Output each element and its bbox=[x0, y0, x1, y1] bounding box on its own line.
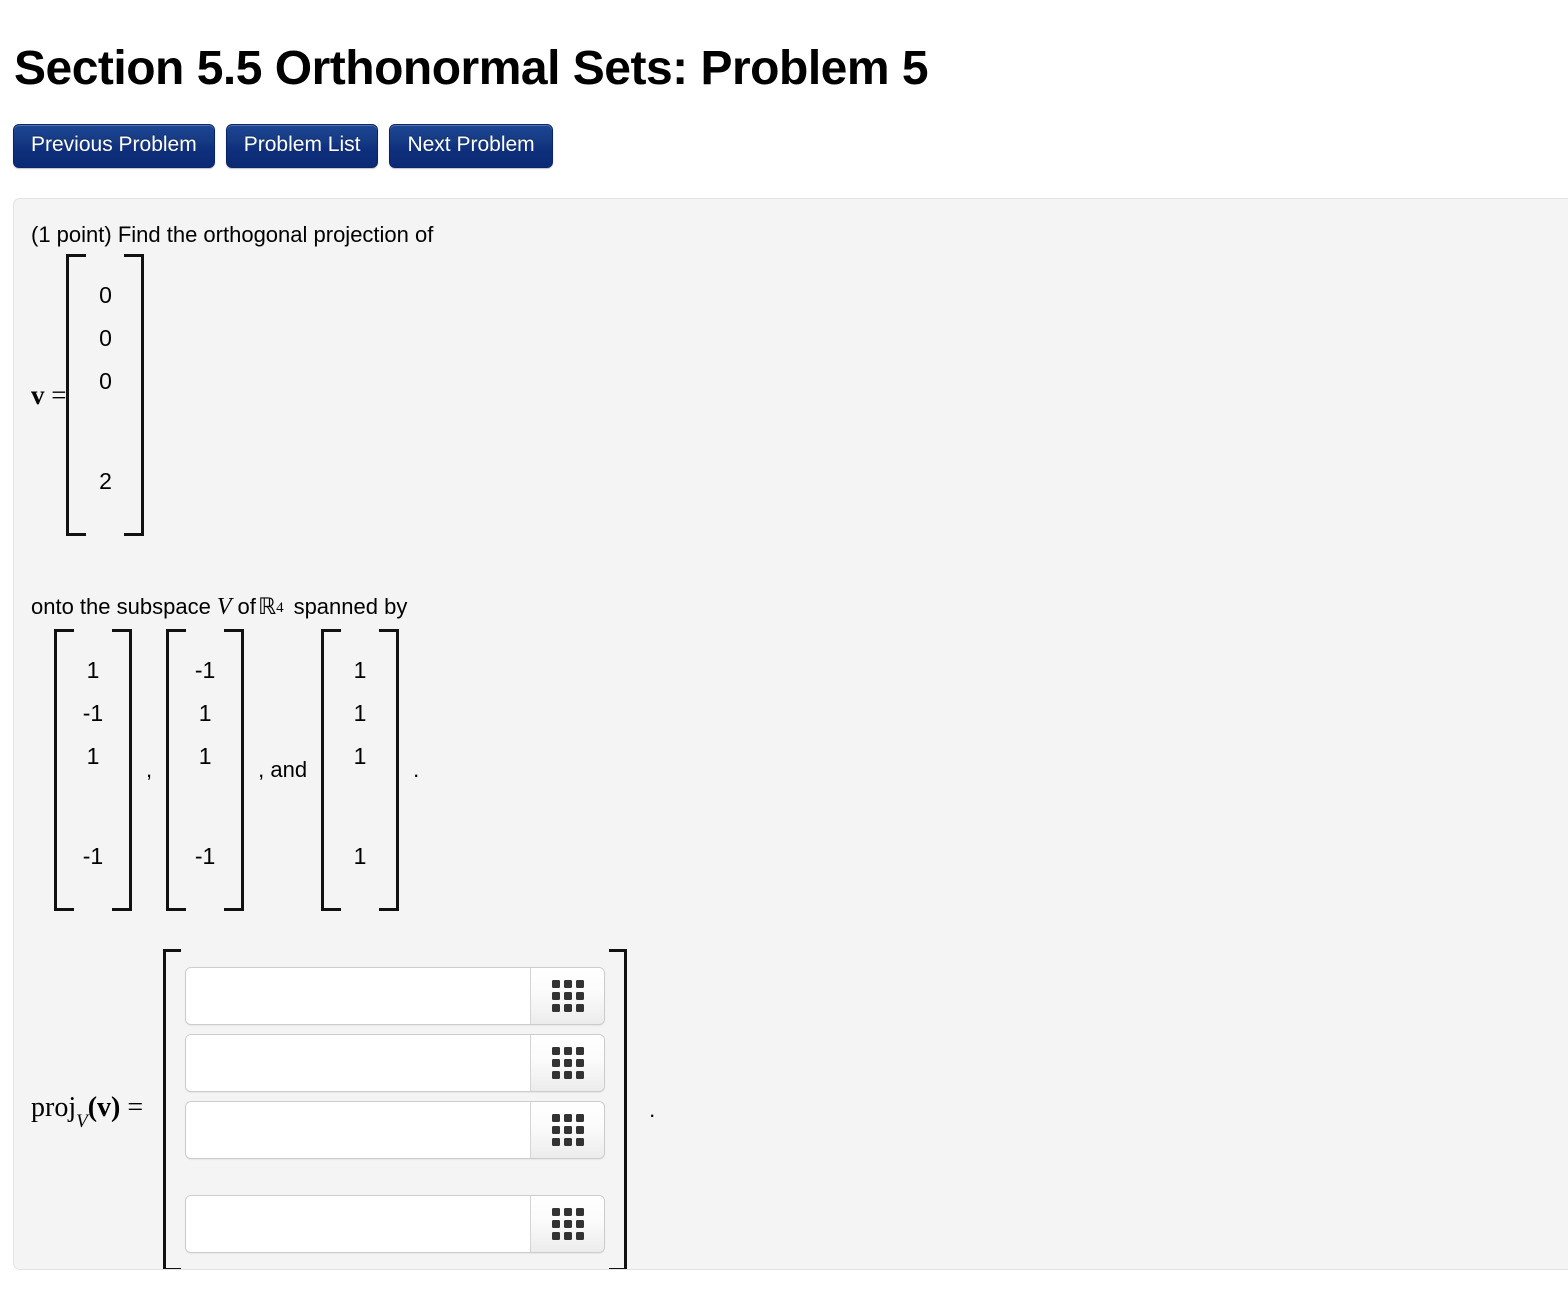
vector-v-label: v = bbox=[31, 380, 66, 411]
real-field-symbol: ℝ bbox=[256, 594, 276, 620]
basis-vector-entry: 1 bbox=[192, 692, 218, 735]
problem-navigation-bar: Previous Problem Problem List Next Probl… bbox=[13, 124, 553, 168]
basis-vector-entry: -1 bbox=[192, 835, 218, 878]
answer-input-4[interactable] bbox=[186, 1196, 530, 1252]
right-bracket bbox=[112, 629, 132, 911]
vector-v-symbol: v bbox=[31, 380, 45, 410]
left-bracket bbox=[321, 629, 341, 911]
subspace-description-line: onto the subspace V of ℝ4 spanned by bbox=[31, 594, 407, 623]
basis-vector-entry: 1 bbox=[80, 649, 106, 692]
subspace-text-after: spanned by bbox=[284, 594, 408, 620]
basis-vector-entry: 1 bbox=[347, 649, 373, 692]
math-keypad-grid-icon bbox=[552, 1114, 584, 1146]
basis-vector-entry: -1 bbox=[80, 835, 106, 878]
basis-separator-comma: , bbox=[132, 757, 166, 783]
math-keypad-grid-icon bbox=[552, 1047, 584, 1079]
vector-v-equals: = bbox=[51, 380, 66, 410]
projection-proj-text: proj bbox=[31, 1092, 76, 1123]
math-keypad-grid-icon bbox=[552, 1208, 584, 1240]
left-bracket bbox=[66, 254, 86, 536]
basis-vector-entry: 1 bbox=[347, 692, 373, 735]
math-keypad-button-4[interactable] bbox=[530, 1196, 604, 1252]
basis-vector-entry: 1 bbox=[347, 835, 373, 878]
right-bracket bbox=[124, 254, 144, 536]
left-bracket bbox=[54, 629, 74, 911]
answer-field-group-4[interactable] bbox=[185, 1195, 605, 1253]
vector-v-entry: 0 bbox=[92, 317, 118, 360]
basis-vector-entry: -1 bbox=[192, 649, 218, 692]
problem-prompt-text: (1 point) Find the orthogonal projection… bbox=[31, 222, 433, 248]
projection-subscript-V: V bbox=[76, 1111, 88, 1132]
vector-v-matrix: 0 0 0 2 bbox=[66, 254, 144, 536]
vector-v-entry: 2 bbox=[92, 460, 118, 503]
basis-vector-entry: 1 bbox=[80, 735, 106, 778]
right-bracket bbox=[379, 629, 399, 911]
subspace-text-before: onto the subspace bbox=[31, 594, 211, 620]
subspace-of-text: of bbox=[237, 594, 255, 620]
basis-vector-entry: 1 bbox=[347, 735, 373, 778]
answer-field-group-2[interactable] bbox=[185, 1034, 605, 1092]
answer-field-spacer bbox=[185, 1168, 605, 1186]
answer-terminal-period: . bbox=[627, 1097, 655, 1123]
problem-page: Section 5.5 Orthonormal Sets: Problem 5 … bbox=[0, 0, 1568, 1294]
projection-equals: = bbox=[127, 1092, 143, 1123]
basis-vector-3: 1 1 1 1 bbox=[321, 629, 399, 911]
answer-input-1[interactable] bbox=[186, 968, 530, 1024]
problem-panel: (1 point) Find the orthogonal projection… bbox=[13, 198, 1568, 1270]
projection-label: projV(v) = bbox=[31, 1092, 163, 1129]
problem-list-button[interactable]: Problem List bbox=[226, 124, 379, 168]
math-keypad-grid-icon bbox=[552, 980, 584, 1012]
basis-vector-entry: -1 bbox=[80, 692, 106, 735]
basis-vectors-display: 1 -1 1 -1 , -1 1 1 -1 bbox=[54, 629, 433, 911]
math-keypad-button-1[interactable] bbox=[530, 968, 604, 1024]
math-keypad-button-3[interactable] bbox=[530, 1102, 604, 1158]
vector-v-entry: 0 bbox=[92, 274, 118, 317]
basis-separator-and: , and bbox=[244, 757, 321, 783]
answer-row: projV(v) = bbox=[31, 949, 655, 1270]
subspace-symbol-V: V bbox=[211, 594, 238, 620]
answer-field-group-1[interactable] bbox=[185, 967, 605, 1025]
basis-vector-2: -1 1 1 -1 bbox=[166, 629, 244, 911]
answer-field-group-3[interactable] bbox=[185, 1101, 605, 1159]
previous-problem-button[interactable]: Previous Problem bbox=[13, 124, 215, 168]
real-field-exponent: 4 bbox=[276, 595, 284, 621]
vector-v-entry: 0 bbox=[92, 360, 118, 403]
answer-input-2[interactable] bbox=[186, 1035, 530, 1091]
left-bracket bbox=[166, 629, 186, 911]
left-bracket bbox=[163, 949, 181, 1270]
page-title: Section 5.5 Orthonormal Sets: Problem 5 bbox=[14, 40, 928, 98]
basis-vector-entry: 1 bbox=[192, 735, 218, 778]
right-bracket bbox=[609, 949, 627, 1270]
next-problem-button[interactable]: Next Problem bbox=[389, 124, 552, 168]
projection-argument: (v) bbox=[88, 1092, 121, 1123]
answer-input-3[interactable] bbox=[186, 1102, 530, 1158]
basis-vector-1: 1 -1 1 -1 bbox=[54, 629, 132, 911]
vector-v-display: v = 0 0 0 2 bbox=[31, 254, 144, 536]
basis-terminal-period: . bbox=[399, 757, 433, 783]
math-keypad-button-2[interactable] bbox=[530, 1035, 604, 1091]
answer-matrix bbox=[163, 949, 627, 1270]
right-bracket bbox=[224, 629, 244, 911]
